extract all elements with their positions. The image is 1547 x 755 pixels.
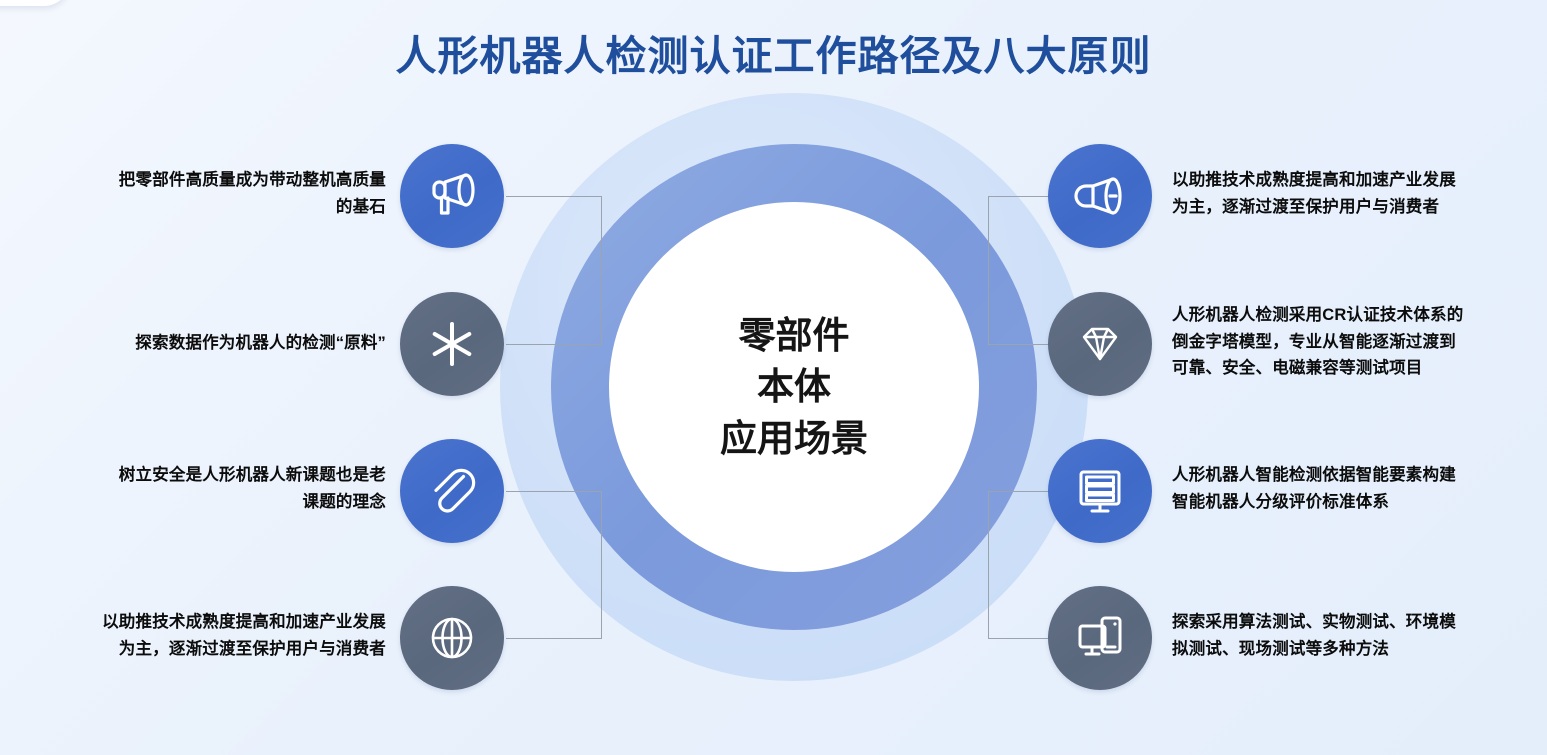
icon-bubble-left-3[interactable]: [400, 439, 504, 543]
asterisk-icon: [425, 317, 479, 371]
right-item-2-line-2: 倒金字塔模型，专业从智能逐渐过渡到: [1172, 329, 1532, 356]
right-item-1-line-1: 以助推技术成熟度提高和加速产业发展: [1172, 167, 1532, 194]
connector-left-3-v: [601, 491, 602, 639]
left-item-3-line-2: 课题的理念: [16, 489, 386, 516]
megaphone-icon: [425, 169, 479, 223]
right-item-text-4: 探索采用算法测试、实物测试、环境模 拟测试、现场测试等多种方法: [1172, 609, 1532, 662]
left-item-4-line-1: 以助推技术成熟度提高和加速产业发展: [16, 609, 386, 636]
connector-left-1-h: [506, 196, 602, 197]
globe-icon: [425, 611, 479, 665]
right-item-text-2: 人形机器人检测采用CR认证技术体系的 倒金字塔模型，专业从智能逐渐过渡到 可靠、…: [1172, 302, 1532, 382]
infographic-stage: 人形机器人检测认证工作路径及八大原则 零部件 本体 应用场景: [0, 0, 1547, 755]
icon-bubble-right-4[interactable]: [1048, 586, 1152, 690]
connector-left-1-v: [601, 196, 602, 346]
center-label-group: 零部件 本体 应用场景: [609, 202, 979, 572]
left-item-3-line-1: 树立安全是人形机器人新课题也是老: [16, 462, 386, 489]
left-item-text-2: 探索数据作为机器人的检测“原料”: [16, 330, 386, 357]
right-item-4-line-2: 拟测试、现场测试等多种方法: [1172, 636, 1532, 663]
connector-left-4-h: [506, 638, 602, 639]
right-item-3-line-1: 人形机器人智能检测依据智能要素构建: [1172, 462, 1532, 489]
server-icon: [1072, 463, 1128, 519]
center-line-2: 本体: [757, 364, 831, 409]
speaker-icon: [1073, 169, 1127, 223]
icon-bubble-right-3[interactable]: [1048, 439, 1152, 543]
devices-icon: [1072, 610, 1128, 666]
left-item-1-line-1: 把零部件高质量成为带动整机高质量: [16, 167, 386, 194]
center-line-3: 应用场景: [720, 416, 868, 461]
right-item-text-1: 以助推技术成熟度提高和加速产业发展 为主，逐渐过渡至保护用户与消费者: [1172, 167, 1532, 220]
icon-bubble-right-2[interactable]: [1048, 292, 1152, 396]
left-item-text-1: 把零部件高质量成为带动整机高质量 的基石: [16, 167, 386, 220]
connector-left-3-h: [506, 491, 602, 492]
left-item-1-line-2: 的基石: [16, 194, 386, 221]
left-item-2-line-1: 探索数据作为机器人的检测“原料”: [16, 330, 386, 357]
right-item-1-line-2: 为主，逐渐过渡至保护用户与消费者: [1172, 194, 1532, 221]
icon-bubble-left-2[interactable]: [400, 292, 504, 396]
right-item-2-line-1: 人形机器人检测采用CR认证技术体系的: [1172, 302, 1532, 329]
connector-right-3-v: [988, 491, 989, 639]
center-line-1: 零部件: [739, 313, 850, 358]
right-item-3-line-2: 智能机器人分级评价标准体系: [1172, 489, 1532, 516]
right-item-4-line-1: 探索采用算法测试、实物测试、环境模: [1172, 609, 1532, 636]
diamond-icon: [1072, 316, 1128, 372]
left-item-4-line-2: 为主，逐渐过渡至保护用户与消费者: [16, 636, 386, 663]
icon-bubble-left-1[interactable]: [400, 144, 504, 248]
connector-left-2-h: [506, 344, 602, 345]
icon-bubble-left-4[interactable]: [400, 586, 504, 690]
icon-bubble-right-1[interactable]: [1048, 144, 1152, 248]
page-title: 人形机器人检测认证工作路径及八大原则: [0, 22, 1547, 82]
left-item-text-3: 树立安全是人形机器人新课题也是老 课题的理念: [16, 462, 386, 515]
connector-right-1-v: [988, 196, 989, 346]
right-item-text-3: 人形机器人智能检测依据智能要素构建 智能机器人分级评价标准体系: [1172, 462, 1532, 515]
right-item-2-line-3: 可靠、安全、电磁兼容等测试项目: [1172, 355, 1532, 382]
paperclip-icon: [425, 464, 479, 518]
left-item-text-4: 以助推技术成熟度提高和加速产业发展 为主，逐渐过渡至保护用户与消费者: [16, 609, 386, 662]
